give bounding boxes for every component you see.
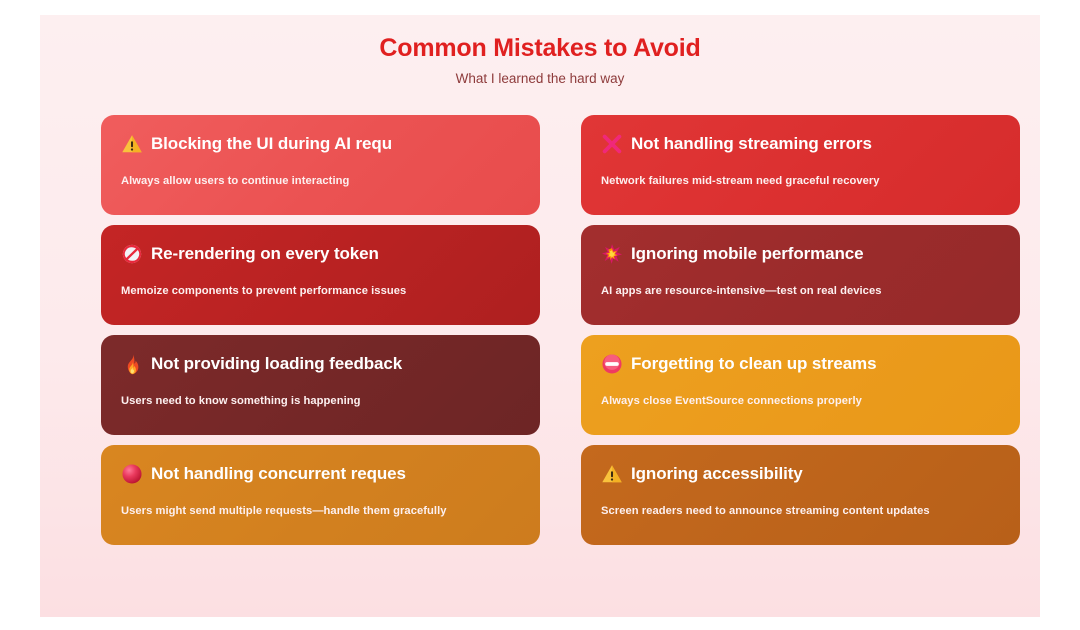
collision-burst-icon (601, 243, 623, 265)
card-description: Screen readers need to announce streamin… (601, 500, 931, 523)
warning-triangle-icon (121, 133, 143, 155)
mistake-card[interactable]: Not handling concurrent reques Users mig… (101, 445, 540, 545)
mistake-card[interactable]: Forgetting to clean up streams Always cl… (581, 335, 1020, 435)
mistake-card[interactable]: Blocking the UI during AI requ Always al… (101, 115, 540, 215)
mistake-card[interactable]: Ignoring mobile performance AI apps are … (581, 225, 1020, 325)
card-headline: Ignoring mobile performance (601, 241, 1000, 267)
card-title: Not handling concurrent reques (151, 464, 406, 484)
card-title: Blocking the UI during AI requ (151, 134, 392, 154)
card-headline: Not handling streaming errors (601, 131, 1000, 157)
page-title: Common Mistakes to Avoid (40, 33, 1040, 63)
card-description: AI apps are resource-intensive—test on r… (601, 280, 931, 303)
mistake-card[interactable]: Not providing loading feedback Users nee… (101, 335, 540, 435)
mistake-card[interactable]: Re-rendering on every token Memoize comp… (101, 225, 540, 325)
card-description: Memoize components to prevent performanc… (121, 280, 451, 303)
warning-triangle-icon (601, 463, 623, 485)
card-title: Not providing loading feedback (151, 354, 402, 374)
card-title: Re-rendering on every token (151, 244, 379, 264)
fire-icon (121, 353, 143, 375)
card-title: Ignoring mobile performance (631, 244, 864, 264)
mistake-card[interactable]: Not handling streaming errors Network fa… (581, 115, 1020, 215)
card-title: Forgetting to clean up streams (631, 354, 876, 374)
card-description: Users need to know something is happenin… (121, 390, 451, 413)
mistake-card[interactable]: Ignoring accessibility Screen readers ne… (581, 445, 1020, 545)
card-title: Not handling streaming errors (631, 134, 872, 154)
card-description: Network failures mid-stream need gracefu… (601, 170, 931, 193)
card-headline: Blocking the UI during AI requ (121, 131, 520, 157)
card-headline: Re-rendering on every token (121, 241, 520, 267)
card-headline: Not providing loading feedback (121, 351, 520, 377)
card-headline: Not handling concurrent reques (121, 461, 520, 487)
no-entry-icon (601, 353, 623, 375)
card-description: Users might send multiple requests—handl… (121, 500, 451, 523)
mistakes-grid: Blocking the UI during AI requ Always al… (101, 115, 980, 545)
prohibited-icon (121, 243, 143, 265)
card-headline: Forgetting to clean up streams (601, 351, 1000, 377)
card-description: Always allow users to continue interacti… (121, 170, 451, 193)
slide-header: Common Mistakes to Avoid What I learned … (40, 15, 1040, 87)
slide-canvas: Common Mistakes to Avoid What I learned … (40, 15, 1040, 617)
cross-mark-icon (601, 133, 623, 155)
card-description: Always close EventSource connections pro… (601, 390, 931, 413)
card-headline: Ignoring accessibility (601, 461, 1000, 487)
red-circle-icon (121, 463, 143, 485)
card-title: Ignoring accessibility (631, 464, 803, 484)
page-subtitle: What I learned the hard way (40, 71, 1040, 87)
